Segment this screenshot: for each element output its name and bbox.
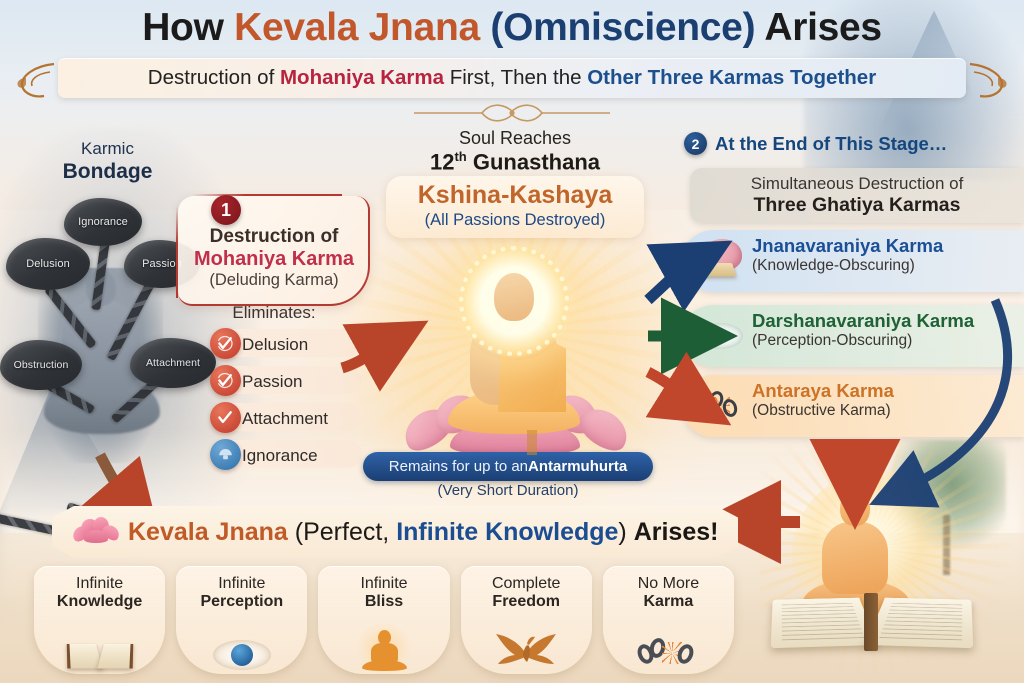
book-page-left: [771, 598, 879, 649]
result-banner: Kevala Jnana (Perfect, Infinite Knowledg…: [52, 506, 738, 558]
result-banner-text: Kevala Jnana (Perfect, Infinite Knowledg…: [128, 518, 718, 547]
eye-shape: [697, 323, 743, 349]
phoenix-bird-icon: [461, 622, 592, 670]
outcome-card-label: Infinite Knowledge: [57, 575, 142, 611]
chain-shape: [638, 638, 698, 670]
karma-rock-attachment: Attachment: [130, 338, 216, 388]
subtitle-part-mohaniya: Mohaniya Karma: [280, 66, 444, 89]
flourish-right-icon: [964, 60, 1010, 104]
book-text-lines: [879, 603, 962, 640]
chain-ring: [721, 397, 739, 418]
karma-text-darshanavaraniya: Darshanavaraniya Karma (Perception-Obscu…: [752, 311, 1018, 350]
kshina-kashaya-title: Kshina-Kashaya: [386, 181, 644, 210]
subtitle-text: Destruction of Mohaniya Karma First, The…: [148, 66, 876, 90]
title-part-omniscience: (Omniscience): [490, 6, 764, 49]
chain-shape: [698, 389, 742, 423]
subtitle-part-1: Destruction of: [148, 66, 280, 89]
result-part-2: (Perfect,: [288, 518, 396, 546]
meditating-shape: [358, 628, 410, 670]
phoenix-shape: [493, 628, 559, 670]
step1-line1: Destruction of: [178, 226, 370, 248]
result-part-4: ): [618, 518, 633, 546]
book-page-right: [866, 598, 974, 649]
antarmuhurta-prefix: Remains for up to an: [389, 458, 528, 475]
infographic-root: How Kevala Jnana (Omniscience) Arises De…: [0, 0, 1024, 683]
outcome-card-complete-freedom[interactable]: Complete Freedom: [461, 566, 592, 674]
step1-line3-deluding: (Deluding Karma): [178, 271, 370, 290]
liberated-soul-head: [840, 490, 870, 526]
book-page-left: [66, 644, 102, 669]
outcome-cards-row: Infinite Knowledge Infinite Perception: [34, 566, 734, 674]
title-part-kevala-jnana: Kevala Jnana: [234, 6, 490, 49]
outcome-card-infinite-perception[interactable]: Infinite Perception: [176, 566, 307, 674]
center-line1: Soul Reaches: [370, 128, 660, 149]
check-circle-icon-passion: [210, 365, 241, 396]
outcome-card-infinite-bliss[interactable]: Infinite Bliss: [318, 566, 449, 674]
karma-text-antaraya: Antaraya Karma (Obstructive Karma): [752, 381, 1018, 420]
book-shape: [67, 636, 133, 670]
karma-rock-delusion: Delusion: [6, 238, 90, 290]
meditating-figure-icon: [318, 622, 449, 670]
brain-book-icon: [690, 232, 750, 290]
outcome-card-infinite-knowledge[interactable]: Infinite Knowledge: [34, 566, 165, 674]
result-part-arises: Arises!: [634, 518, 719, 546]
step2-header: 2 At the End of This Stage…: [684, 132, 1024, 155]
karmic-bondage-title: Karmic Bondage: [0, 138, 215, 186]
outcome-line2: Bliss: [360, 593, 407, 611]
step2-badge: 2: [684, 132, 707, 155]
karma-name-jnanavaraniya: Jnanavaraniya Karma: [752, 236, 1018, 257]
subtitle-banner: Destruction of Mohaniya Karma First, The…: [58, 58, 966, 98]
outcome-line1: Complete: [492, 575, 560, 592]
center-line2-gunasthana: 12th Gunasthana: [370, 149, 660, 175]
kshina-kashaya-sub: (All Passions Destroyed): [386, 211, 644, 230]
karma-sub-jnanavaraniya: (Knowledge-Obscuring): [752, 257, 1018, 275]
ornament-divider-icon: [412, 101, 612, 125]
step1-badge: 1: [211, 195, 241, 225]
eliminate-label-attachment: Attachment: [242, 409, 328, 429]
result-part-infinite-knowledge: Infinite Knowledge: [396, 518, 618, 546]
simultaneous-destruction-box: Simultaneous Destruction of Three Ghatiy…: [690, 168, 1024, 223]
outcome-card-label: Infinite Bliss: [360, 575, 407, 611]
subtitle-part-other-three: Other Three Karmas Together: [587, 66, 876, 89]
antarmuhurta-pill: Remains for up to an Antarmuhurta: [363, 452, 653, 481]
result-part-kevala-jnana: Kevala Jnana: [128, 518, 288, 546]
outcome-line2: Perception: [200, 593, 283, 611]
karma-rock-obstruction: Obstruction: [0, 340, 82, 390]
eye-icon: [176, 622, 307, 670]
outcome-line2: Karma: [638, 593, 699, 611]
karma-name-antaraya: Antaraya Karma: [752, 381, 1018, 402]
book-text-lines: [782, 603, 865, 640]
gunasthana-ordinal: th: [454, 149, 466, 164]
gunasthana-number: 12: [430, 149, 454, 174]
outcome-card-label: Infinite Perception: [200, 575, 283, 611]
flourish-left-icon: [14, 60, 60, 104]
eye-iris: [231, 644, 253, 666]
outcome-card-label: No More Karma: [638, 575, 699, 611]
broken-chain-icon: [690, 377, 750, 435]
outcome-line2: Freedom: [492, 593, 560, 611]
karma-rock-ignorance: Ignorance: [64, 198, 142, 246]
step1-line2-mohaniya: Mohaniya Karma: [178, 248, 370, 271]
karmic-bondage-line2: Bondage: [0, 159, 215, 185]
book-spine: [864, 593, 878, 651]
lotus-petal-front: [84, 530, 108, 543]
outcome-line2: Knowledge: [57, 593, 142, 611]
eye-shape: [213, 640, 271, 670]
simultaneous-line2: Three Ghatiya Karmas: [753, 194, 960, 217]
check-circle-icon-attachment: [210, 402, 241, 433]
broken-chain-icon: [603, 622, 734, 670]
outcome-line1: No More: [638, 575, 699, 592]
outcome-line1: Infinite: [76, 575, 123, 592]
outcome-line1: Infinite: [360, 575, 407, 592]
karma-name-darshanavaraniya: Darshanavaraniya Karma: [752, 311, 1018, 332]
eliminate-label-passion: Passion: [242, 372, 302, 392]
center-figure-head: [494, 273, 534, 321]
open-book-icon: [34, 622, 165, 670]
antarmuhurta-sub: (Very Short Duration): [363, 482, 653, 499]
subtitle-part-3: First, Then the: [444, 66, 587, 89]
karma-sub-darshanavaraniya: (Perception-Obscuring): [752, 332, 1018, 350]
lotus-icon: [72, 515, 118, 549]
open-book-decoration: [772, 583, 972, 663]
blue-circle-icon-ignorance: [210, 439, 241, 470]
eliminates-label: Eliminates:: [178, 303, 370, 323]
meditating-lap: [362, 660, 407, 671]
outcome-card-no-more-karma[interactable]: No More Karma: [603, 566, 734, 674]
karma-sub-antaraya: (Obstructive Karma): [752, 402, 1018, 420]
outcome-line1: Infinite: [218, 575, 265, 592]
check-circle-icon-delusion: [210, 328, 241, 359]
eye-icon: [690, 307, 750, 365]
title-part-arises: Arises: [764, 6, 881, 49]
step2-heading: At the End of This Stage…: [715, 133, 947, 155]
antarmuhurta-word: Antarmuhurta: [528, 458, 627, 475]
title-part-how: How: [142, 6, 234, 49]
gunasthana-word: Gunasthana: [467, 149, 600, 174]
eliminate-label-ignorance: Ignorance: [242, 446, 318, 466]
karma-text-jnanavaraniya: Jnanavaraniya Karma (Knowledge-Obscuring…: [752, 236, 1018, 275]
eye-pupil: [714, 333, 721, 340]
simultaneous-line1: Simultaneous Destruction of: [751, 174, 964, 194]
eliminate-label-delusion: Delusion: [242, 335, 308, 355]
karmic-bondage-line1: Karmic: [81, 139, 134, 158]
outcome-card-label: Complete Freedom: [492, 575, 560, 611]
book-page-right: [97, 644, 133, 669]
page-title: How Kevala Jnana (Omniscience) Arises: [0, 6, 1024, 50]
